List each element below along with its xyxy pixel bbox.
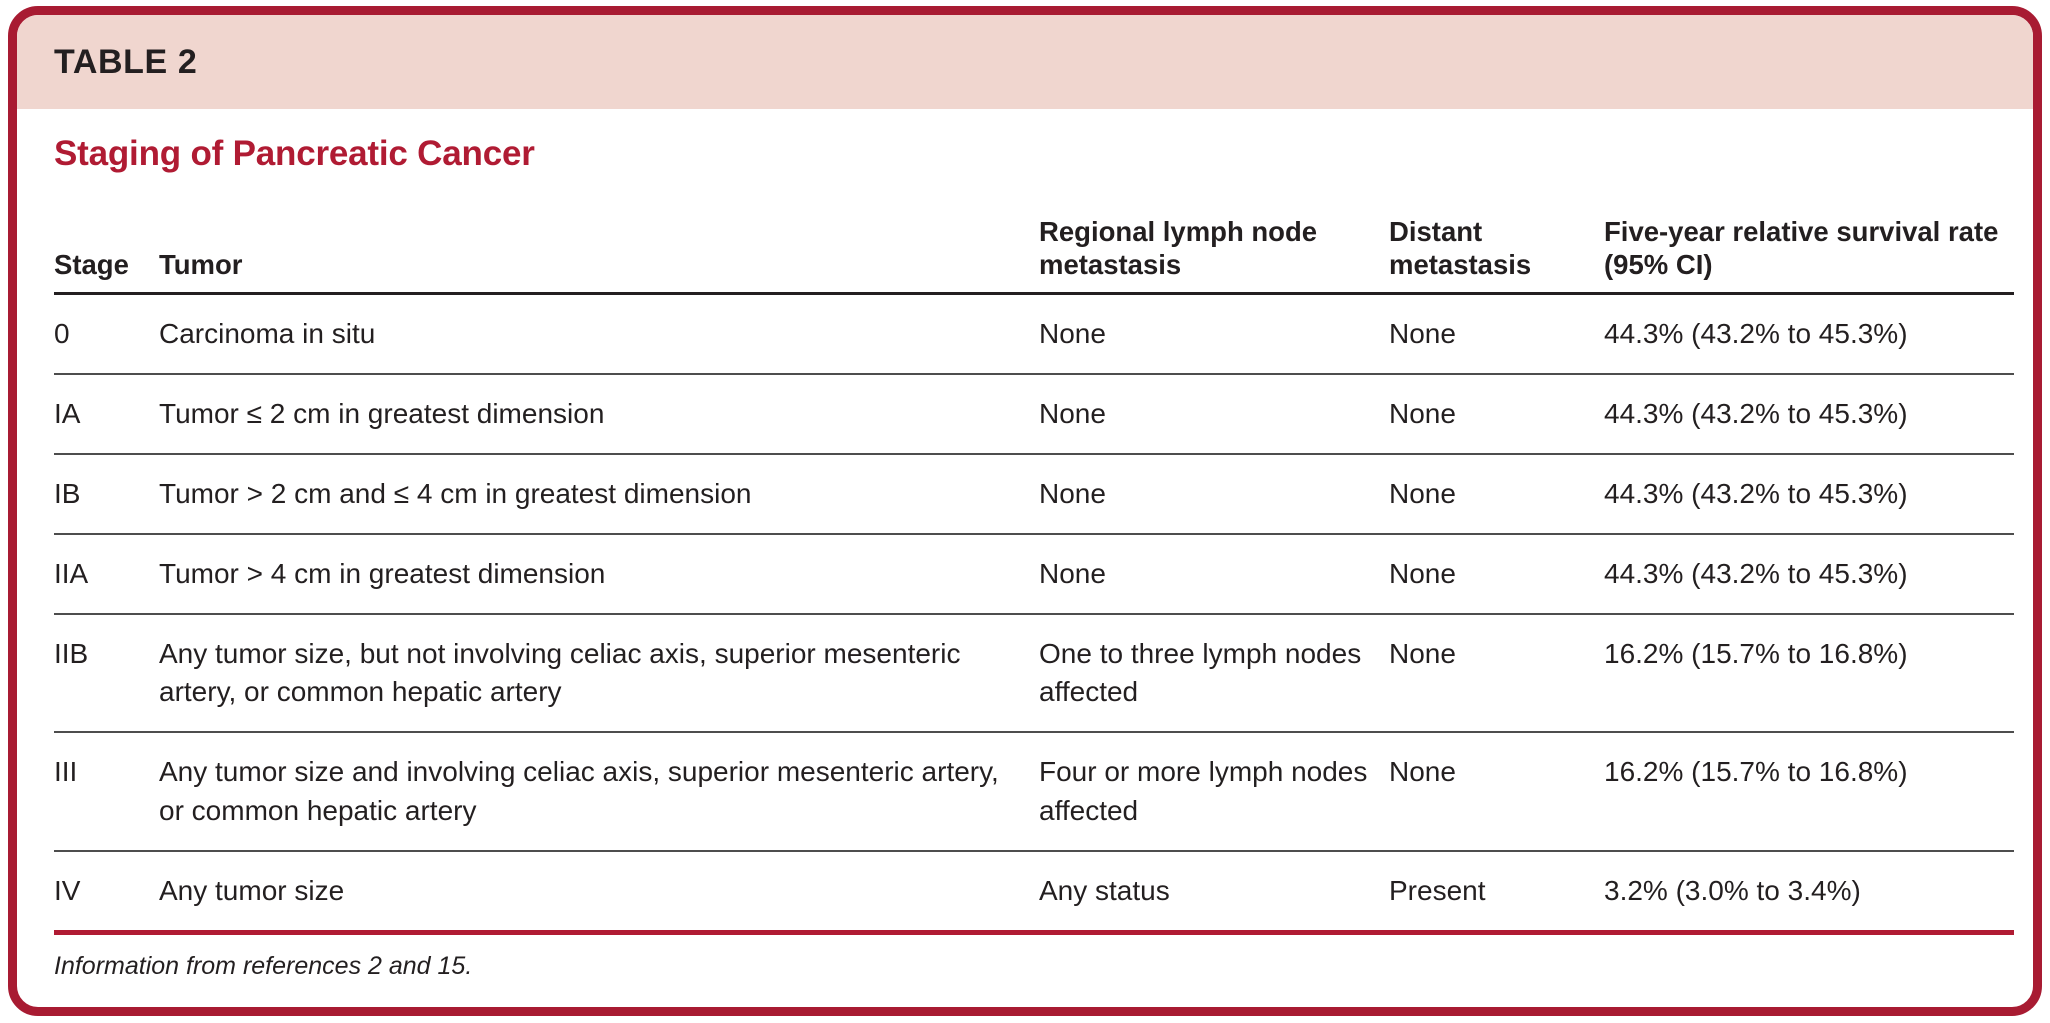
cell-stage: III xyxy=(54,732,159,850)
cell-stage: IA xyxy=(54,374,159,454)
cell-regional-lymph-node-metastasis: None xyxy=(1039,294,1389,375)
cell-distant-metastasis: None xyxy=(1389,614,1604,732)
cell-tumor: Any tumor size, but not involving celiac… xyxy=(159,614,1039,732)
cell-distant-metastasis: None xyxy=(1389,534,1604,614)
table-row: IIBAny tumor size, but not involving cel… xyxy=(54,614,2014,732)
cell-five-year-survival: 3.2% (3.0% to 3.4%) xyxy=(1604,851,2014,933)
table-footnote: Information from references 2 and 15. xyxy=(54,952,1996,981)
cell-stage: IIB xyxy=(54,614,159,732)
cell-five-year-survival: 16.2% (15.7% to 16.8%) xyxy=(1604,614,2014,732)
cell-stage: IB xyxy=(54,454,159,534)
cell-regional-lymph-node-metastasis: Any status xyxy=(1039,851,1389,933)
cell-tumor: Any tumor size and involving celiac axis… xyxy=(159,732,1039,850)
cell-stage: 0 xyxy=(54,294,159,375)
table-row: IVAny tumor sizeAny statusPresent3.2% (3… xyxy=(54,851,2014,933)
column-header-regional-lymph-node-metastasis: Regional lymph node metastasis xyxy=(1039,198,1389,294)
table-card: TABLE 2 Staging of Pancreatic Cancer Sta… xyxy=(8,6,2042,1016)
cell-tumor: Tumor > 4 cm in greatest dimension xyxy=(159,534,1039,614)
table-row: IIATumor > 4 cm in greatest dimensionNon… xyxy=(54,534,2014,614)
table-number-band: TABLE 2 xyxy=(17,15,2033,109)
cell-distant-metastasis: Present xyxy=(1389,851,1604,933)
staging-table: Stage Tumor Regional lymph node metastas… xyxy=(54,198,2014,935)
cell-five-year-survival: 44.3% (43.2% to 45.3%) xyxy=(1604,454,2014,534)
cell-tumor: Tumor > 2 cm and ≤ 4 cm in greatest dime… xyxy=(159,454,1039,534)
cell-regional-lymph-node-metastasis: Four or more lymph nodes affected xyxy=(1039,732,1389,850)
table-body-rows: 0Carcinoma in situNoneNone44.3% (43.2% t… xyxy=(54,294,2014,933)
cell-tumor: Any tumor size xyxy=(159,851,1039,933)
cell-distant-metastasis: None xyxy=(1389,454,1604,534)
cell-stage: IV xyxy=(54,851,159,933)
page-root: TABLE 2 Staging of Pancreatic Cancer Sta… xyxy=(0,0,2050,1023)
table-body: Staging of Pancreatic Cancer Stage Tumor… xyxy=(17,135,2033,981)
table-row: 0Carcinoma in situNoneNone44.3% (43.2% t… xyxy=(54,294,2014,375)
cell-stage: IIA xyxy=(54,534,159,614)
cell-five-year-survival: 16.2% (15.7% to 16.8%) xyxy=(1604,732,2014,850)
cell-regional-lymph-node-metastasis: None xyxy=(1039,454,1389,534)
cell-five-year-survival: 44.3% (43.2% to 45.3%) xyxy=(1604,374,2014,454)
table-row: IIIAny tumor size and involving celiac a… xyxy=(54,732,2014,850)
table-row: IBTumor > 2 cm and ≤ 4 cm in greatest di… xyxy=(54,454,2014,534)
cell-regional-lymph-node-metastasis: None xyxy=(1039,374,1389,454)
cell-distant-metastasis: None xyxy=(1389,294,1604,375)
cell-five-year-survival: 44.3% (43.2% to 45.3%) xyxy=(1604,294,2014,375)
cell-distant-metastasis: None xyxy=(1389,374,1604,454)
column-header-distant-metastasis: Distant metastasis xyxy=(1389,198,1604,294)
table-row: IATumor ≤ 2 cm in greatest dimensionNone… xyxy=(54,374,2014,454)
column-header-tumor: Tumor xyxy=(159,198,1039,294)
column-header-stage: Stage xyxy=(54,198,159,294)
cell-tumor: Tumor ≤ 2 cm in greatest dimension xyxy=(159,374,1039,454)
column-header-five-year-survival: Five-year relative survival rate (95% CI… xyxy=(1604,198,2014,294)
table-number-label: TABLE 2 xyxy=(54,43,197,82)
table-header: Stage Tumor Regional lymph node metastas… xyxy=(54,198,2014,294)
page-title: Staging of Pancreatic Cancer xyxy=(54,135,1996,174)
cell-distant-metastasis: None xyxy=(1389,732,1604,850)
table-header-row: Stage Tumor Regional lymph node metastas… xyxy=(54,198,2014,294)
cell-tumor: Carcinoma in situ xyxy=(159,294,1039,375)
cell-regional-lymph-node-metastasis: One to three lymph nodes affected xyxy=(1039,614,1389,732)
cell-five-year-survival: 44.3% (43.2% to 45.3%) xyxy=(1604,534,2014,614)
cell-regional-lymph-node-metastasis: None xyxy=(1039,534,1389,614)
